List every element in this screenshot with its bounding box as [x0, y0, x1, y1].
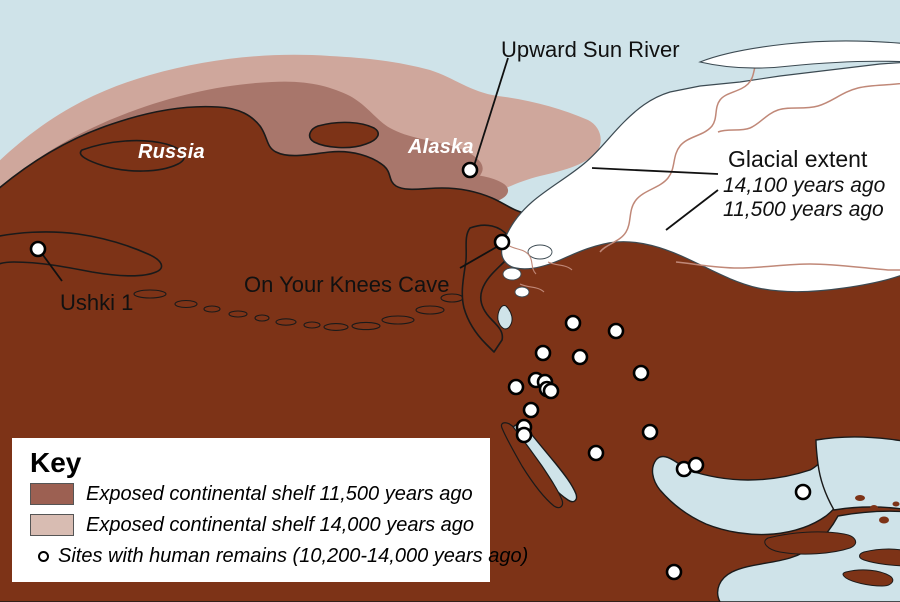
- legend-title: Key: [30, 448, 490, 477]
- legend-label-sites: Sites with human remains (10,200-14,000 …: [58, 545, 528, 568]
- site-marker: [517, 428, 531, 442]
- glacial-extent-11500-label: 11,500 years ago: [723, 198, 884, 222]
- site-label-on-your-knees-cave: On Your Knees Cave: [244, 272, 449, 298]
- region-label-alaska: Alaska: [408, 136, 474, 159]
- legend-row-sites: Sites with human remains (10,200-14,000 …: [30, 541, 490, 571]
- site-marker: [643, 425, 657, 439]
- map-figure: Russia Alaska Upward Sun River On Your K…: [0, 0, 900, 602]
- region-label-russia: Russia: [138, 141, 205, 164]
- site-marker: [796, 485, 810, 499]
- site-marker: [544, 384, 558, 398]
- site-marker: [667, 565, 681, 579]
- open-circle-marker-icon: [32, 545, 54, 567]
- legend-row-shelf-14000: Exposed continental shelf 14,000 years a…: [30, 510, 490, 540]
- open-circle-marker-glyph: [38, 551, 49, 562]
- glacial-extent-14100-label: 14,100 years ago: [723, 174, 885, 198]
- legend-swatch-shelf-14000: [30, 514, 74, 536]
- site-marker: [536, 346, 550, 360]
- site-marker: [524, 403, 538, 417]
- legend-label-shelf-14000: Exposed continental shelf 14,000 years a…: [86, 514, 474, 537]
- site-marker: [31, 242, 45, 256]
- site-marker: [689, 458, 703, 472]
- site-marker: [495, 235, 509, 249]
- map-legend: Key Exposed continental shelf 11,500 yea…: [12, 438, 490, 582]
- site-marker: [573, 350, 587, 364]
- site-marker: [463, 163, 477, 177]
- site-marker: [634, 366, 648, 380]
- legend-row-shelf-11500: Exposed continental shelf 11,500 years a…: [30, 479, 490, 509]
- glacial-extent-title: Glacial extent: [728, 146, 867, 173]
- site-marker: [609, 324, 623, 338]
- site-marker: [566, 316, 580, 330]
- site-label-upward-sun-river: Upward Sun River: [501, 37, 680, 63]
- legend-swatch-shelf-11500: [30, 483, 74, 505]
- site-marker: [589, 446, 603, 460]
- site-marker: [509, 380, 523, 394]
- legend-label-shelf-11500: Exposed continental shelf 11,500 years a…: [86, 483, 473, 506]
- site-label-ushki-1: Ushki 1: [60, 290, 133, 316]
